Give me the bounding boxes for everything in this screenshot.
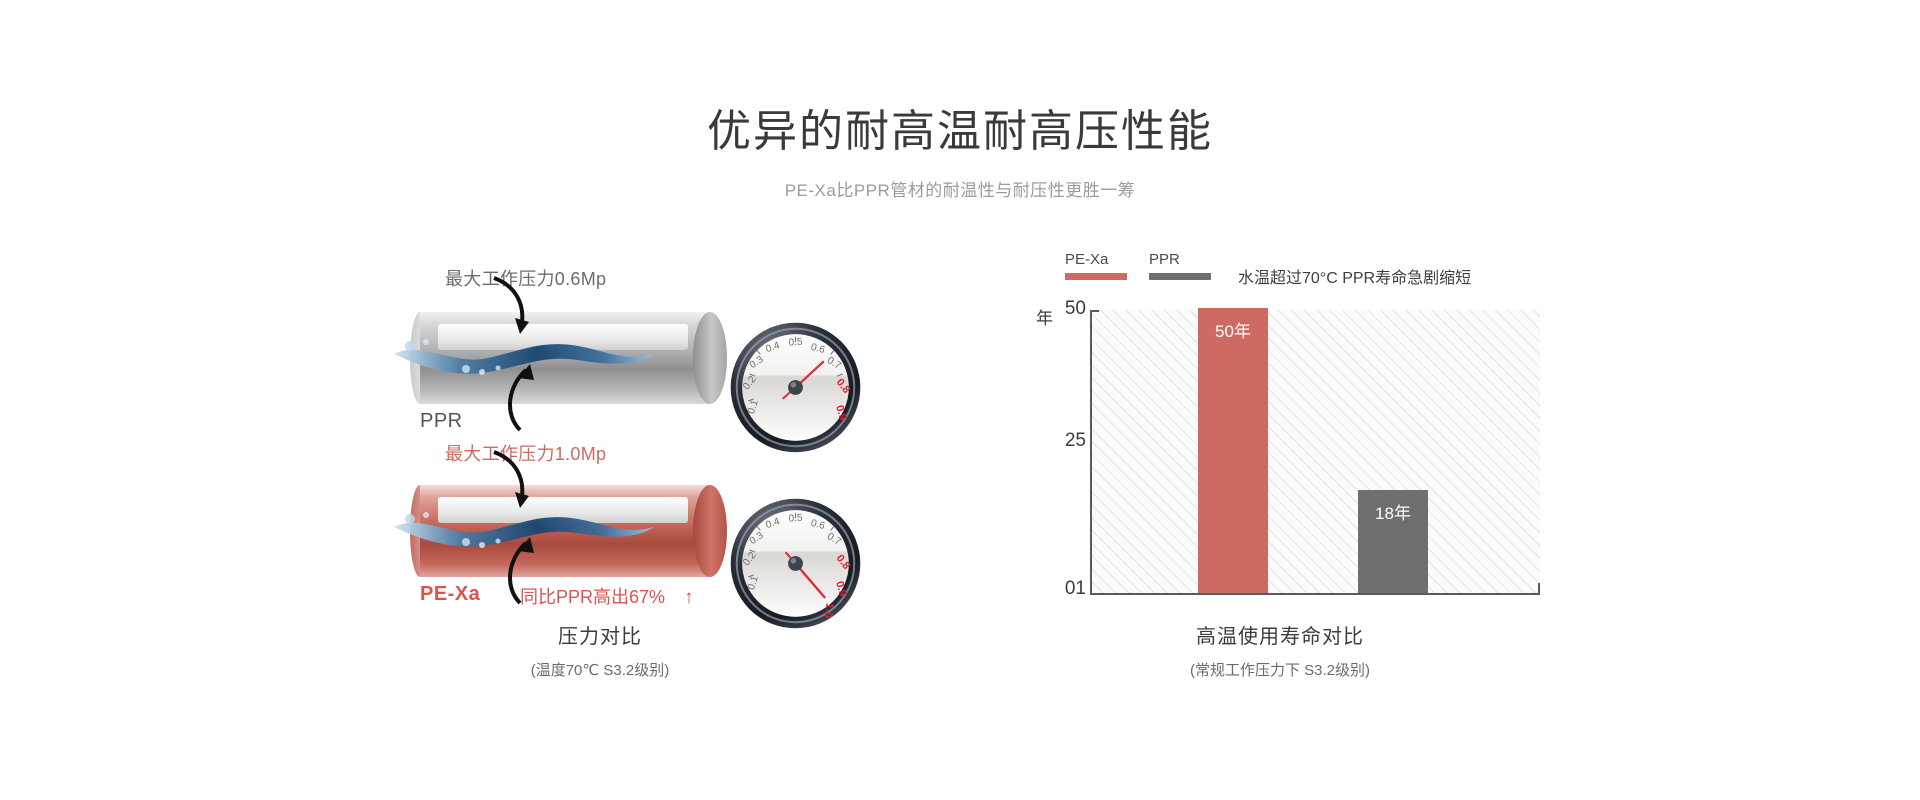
- lifespan-bar-chart: PE-Xa PPR 水温超过70°C PPR寿命急剧缩短 年 50 25 01 …: [1020, 260, 1560, 590]
- caption-subtitle: (温度70℃ S3.2级别): [380, 659, 820, 680]
- up-arrow-icon: ↑: [684, 587, 694, 608]
- legend-swatch-pexa: [1065, 273, 1127, 280]
- header: 优异的耐高温耐高压性能 PE-Xa比PPR管材的耐温性与耐压性更胜一筹: [0, 108, 1920, 201]
- ppr-pipe-graphic: →: [420, 312, 735, 404]
- legend-label-pexa: PE-Xa: [1065, 252, 1127, 269]
- page-subtitle: PE-Xa比PPR管材的耐温性与耐压性更胜一筹: [0, 176, 1920, 201]
- x-axis-right-cap: [1538, 583, 1540, 593]
- caption-title: 高温使用寿命对比: [1060, 620, 1500, 649]
- bar-pexa: 50年: [1198, 308, 1268, 593]
- pexa-gain-label: 同比PPR高出67%: [520, 587, 665, 607]
- bar-ppr: 18年: [1358, 490, 1428, 593]
- y-tick-50: 50: [1044, 298, 1086, 320]
- legend-label-ppr: PPR: [1149, 252, 1211, 269]
- legend-swatch-ppr: [1149, 273, 1211, 280]
- page-root: 优异的耐高温耐高压性能 PE-Xa比PPR管材的耐温性与耐压性更胜一筹 最大工作…: [0, 0, 1920, 800]
- ppr-pressure-label: 最大工作压力0.6Mp: [445, 265, 606, 291]
- pexa-pipe-name: PE-Xa: [420, 583, 480, 606]
- svg-text:0.5: 0.5: [788, 513, 803, 525]
- pexa-pipe-graphic: →: [420, 485, 735, 577]
- svg-text:0.5: 0.5: [788, 337, 803, 349]
- page-title: 优异的耐高温耐高压性能: [0, 108, 1920, 156]
- legend-item-pexa: PE-Xa: [1065, 252, 1127, 280]
- y-axis-top-cap: [1090, 310, 1099, 312]
- water-flow-icon: [392, 336, 660, 380]
- chart-plot-area: 50年 18年: [1090, 310, 1540, 595]
- lifespan-chart-caption: 高温使用寿命对比 (常规工作压力下 S3.2级别): [1060, 620, 1500, 680]
- caption-subtitle: (常规工作压力下 S3.2级别): [1060, 659, 1500, 680]
- caption-title: 压力对比: [380, 620, 820, 649]
- legend-item-ppr: PPR: [1149, 252, 1211, 280]
- svg-text:1.0: 1.0: [822, 602, 836, 618]
- bar-value-label-ppr: 18年: [1358, 499, 1428, 524]
- y-axis-line: [1090, 310, 1092, 595]
- ppr-pipe-name: PPR: [420, 410, 463, 433]
- pexa-pressure-label: 最大工作压力1.0Mp: [445, 440, 606, 466]
- bar-value-label-pexa: 50年: [1198, 317, 1268, 342]
- water-flow-icon: [392, 509, 660, 553]
- y-tick-25: 25: [1044, 430, 1086, 452]
- ppr-pressure-gauge: 0.1 0.2 0.3 0.4 0.5 0.6 0.7 0.8 0.9: [728, 320, 863, 455]
- pexa-pressure-gauge: 0.1 0.2 0.3 0.4 0.5 0.6 0.7 0.8 0.9 1.0: [728, 496, 863, 631]
- pressure-chart-caption: 压力对比 (温度70℃ S3.2级别): [380, 620, 820, 680]
- pexa-gain-text: 同比PPR高出67% ↑: [520, 583, 694, 609]
- chart-legend: PE-Xa PPR: [1065, 252, 1211, 280]
- chart-annotation: 水温超过70°C PPR寿命急剧缩短: [1238, 264, 1471, 288]
- y-tick-01: 01: [1044, 578, 1086, 600]
